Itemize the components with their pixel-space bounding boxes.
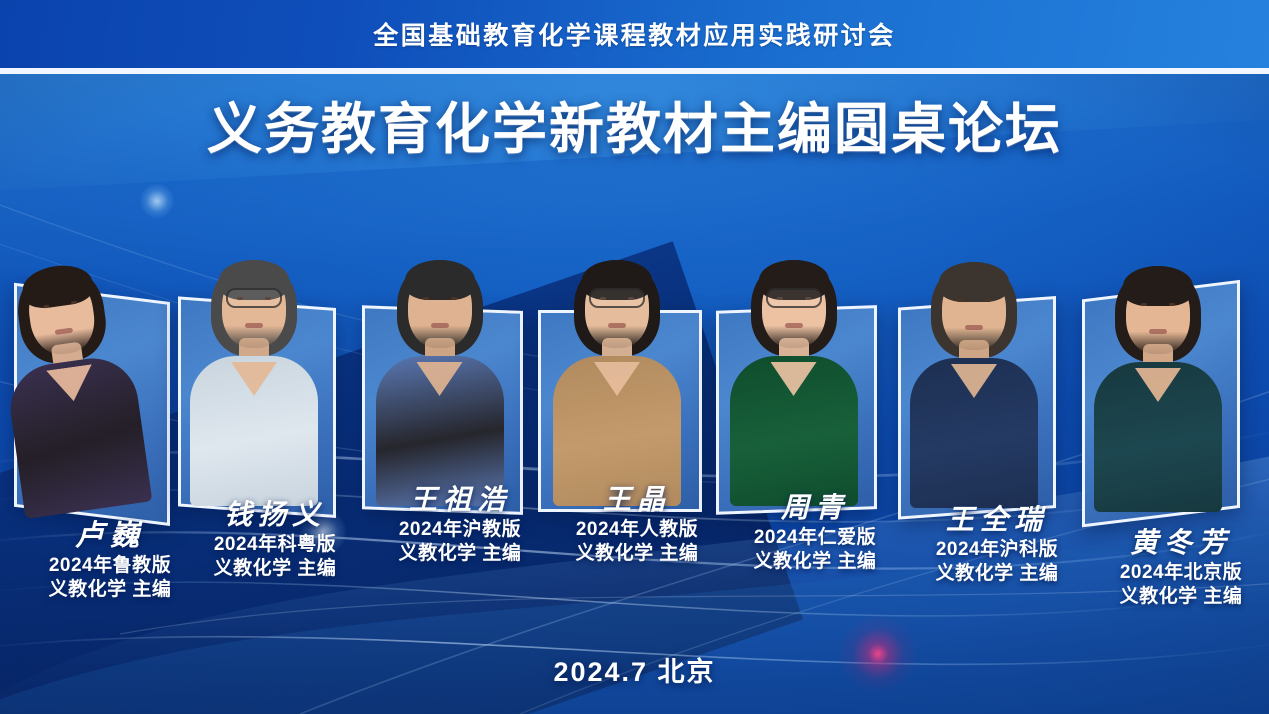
portrait-body: [1094, 362, 1222, 512]
panelist-portrait: [365, 206, 515, 506]
portrait-body: [5, 353, 153, 519]
portrait-eye-left: [957, 299, 963, 302]
portrait-body: [910, 358, 1038, 508]
panelist-name: 黄冬芳: [1066, 528, 1269, 557]
portrait-eye-right: [451, 297, 457, 300]
portrait-hair: [1123, 266, 1193, 306]
portrait-body: [190, 356, 318, 506]
top-banner: 全国基础教育化学课程教材应用实践研讨会: [0, 0, 1269, 68]
portrait-hair: [405, 260, 475, 300]
event-date-location: 2024.7 北京: [553, 657, 715, 687]
panelist-portrait-layer: [542, 206, 692, 506]
portrait-mouth: [965, 325, 983, 330]
banner-divider: [0, 68, 1269, 74]
panelist-portrait: [542, 206, 692, 506]
panelist-role: 义教化学 主编: [0, 578, 225, 602]
panelist-portrait: [179, 206, 329, 506]
portrait-mouth: [1149, 329, 1167, 334]
panelist-portrait-layer: [14, 210, 164, 510]
portrait-body: [730, 356, 858, 506]
panelist-portrait-layer: [1083, 212, 1233, 512]
portrait-collar: [46, 364, 96, 404]
portrait-collar: [951, 364, 997, 398]
portrait-glasses: [226, 288, 282, 308]
panelist-role: 义教化学 主编: [1066, 585, 1269, 609]
main-title-text: 义务教育化学新教材主编圆桌论坛: [207, 97, 1062, 161]
portrait-eye-right: [1169, 303, 1175, 306]
portrait-collar: [417, 362, 463, 396]
portrait-glasses: [589, 288, 645, 308]
portrait-mouth: [608, 323, 626, 328]
panelist-portrait-layer: [179, 206, 329, 506]
panelist-portrait: [1083, 212, 1233, 512]
panelist-portrait-layer: [719, 206, 869, 506]
panelist-edition: 2024年北京版: [1066, 561, 1269, 585]
portrait-eye-left: [1141, 303, 1147, 306]
panelist-portrait-layer: [365, 206, 515, 506]
portrait-hair: [939, 262, 1009, 302]
main-title: 义务教育化学新教材主编圆桌论坛: [0, 84, 1269, 164]
portrait-collar: [231, 362, 277, 396]
presentation-slide: 全国基础教育化学课程教材应用实践研讨会 义务教育化学新教材主编圆桌论坛 卢巍20…: [0, 0, 1269, 714]
footer: 2024.7 北京: [0, 650, 1269, 689]
portrait-mouth: [785, 323, 803, 328]
panelist-portrait: [899, 208, 1049, 508]
portrait-collar: [771, 362, 817, 396]
portrait-eye-right: [985, 299, 991, 302]
portrait-glasses: [766, 288, 822, 308]
portrait-mouth: [431, 323, 449, 328]
portrait-mouth: [245, 323, 263, 328]
panelist-portrait: [14, 210, 164, 510]
conference-title: 全国基础教育化学课程教材应用实践研讨会: [373, 16, 896, 52]
portrait-eye-left: [423, 297, 429, 300]
portrait-collar: [594, 362, 640, 396]
panelist-caption: 黄冬芳2024年北京版义教化学 主编: [1066, 528, 1269, 608]
panelist-portrait-layer: [899, 208, 1049, 508]
panelist-portrait: [719, 206, 869, 506]
portrait-collar: [1135, 368, 1181, 402]
